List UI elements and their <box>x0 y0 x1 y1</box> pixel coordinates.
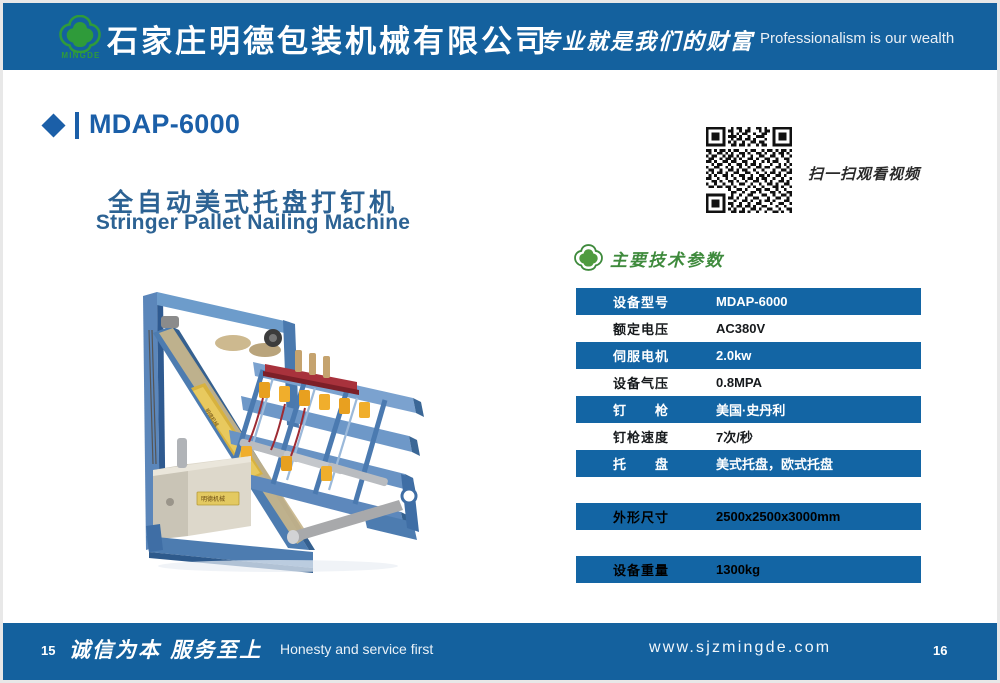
spec-value: 7次/秒 <box>706 427 921 446</box>
spec-label: 设备重量 <box>576 560 706 579</box>
spec-label: 托 盘 <box>576 454 706 473</box>
mingde-flower-logo-icon <box>574 244 603 271</box>
brochure-page: MINGDE 石家庄明德包装机械有限公司 专业就是我们的财富 Professio… <box>3 3 997 680</box>
logo-subtext: MINGDE <box>53 51 109 60</box>
table-row: 设备型号MDAP-6000 <box>576 288 921 315</box>
footer-slogan-en: Honesty and service first <box>280 641 433 657</box>
svg-text:明德机械: 明德机械 <box>201 495 225 503</box>
spec-value: 2500x2500x3000mm <box>706 509 921 524</box>
model-number: MDAP-6000 <box>89 109 240 140</box>
product-photo: 明德机械 <box>113 278 473 573</box>
spec-value: 0.8MPA <box>706 375 921 390</box>
table-row: 设备重量 1300kg <box>576 556 921 583</box>
page-footer: 15 诚信为本 服务至上 Honesty and service first w… <box>3 623 997 680</box>
footer-slogan-cn: 诚信为本 服务至上 <box>69 634 262 664</box>
spec-value: 2.0kw <box>706 348 921 363</box>
table-row: 钉 枪美国·史丹利 <box>576 396 921 423</box>
spec-value: 1300kg <box>706 562 921 577</box>
page-number-left: 15 <box>41 643 55 658</box>
header-slogan-cn: 专业就是我们的财富 <box>538 24 754 56</box>
table-row: 设备气压0.8MPA <box>576 369 921 396</box>
qr-code-icon[interactable] <box>703 124 795 216</box>
company-name-cn: 石家庄明德包装机械有限公司 <box>107 16 549 61</box>
spec-value: 美式托盘，欧式托盘 <box>706 454 921 473</box>
spec-label: 设备气压 <box>576 373 706 392</box>
diamond-bullet-icon <box>41 113 65 137</box>
spec-label: 钉 枪 <box>576 400 706 419</box>
spec-label: 伺服电机 <box>576 346 706 365</box>
spec-value: 美国·史丹利 <box>706 400 921 419</box>
header-slogan-en: Professionalism is our wealth <box>760 30 954 47</box>
spec-heading-label: 主要技术参数 <box>610 246 724 271</box>
vertical-bar-divider <box>75 112 79 139</box>
page-number-right: 16 <box>933 643 947 658</box>
table-row: 托 盘美式托盘，欧式托盘 <box>576 450 921 477</box>
spec-label: 设备型号 <box>576 292 706 311</box>
product-title-en: Stringer Pallet Nailing Machine <box>3 211 503 235</box>
mingde-flower-logo-icon <box>59 15 101 53</box>
spec-value: MDAP-6000 <box>706 294 921 309</box>
website-url[interactable]: www.sjzmingde.com <box>649 639 831 657</box>
table-row: 外形尺寸 2500x2500x3000mm <box>576 503 921 530</box>
spec-label: 额定电压 <box>576 319 706 338</box>
spec-label: 钉枪速度 <box>576 427 706 446</box>
spec-table: 设备型号MDAP-6000额定电压AC380V伺服电机2.0kw设备气压0.8M… <box>576 288 921 477</box>
qr-caption: 扫一扫观看视频 <box>808 163 920 184</box>
table-row: 伺服电机2.0kw <box>576 342 921 369</box>
page-header: MINGDE 石家庄明德包装机械有限公司 专业就是我们的财富 Professio… <box>3 3 997 70</box>
table-row: 钉枪速度7次/秒 <box>576 423 921 450</box>
table-row: 额定电压AC380V <box>576 315 921 342</box>
spec-label: 外形尺寸 <box>576 507 706 526</box>
company-logo: MINGDE <box>53 15 109 65</box>
spec-value: AC380V <box>706 321 921 336</box>
